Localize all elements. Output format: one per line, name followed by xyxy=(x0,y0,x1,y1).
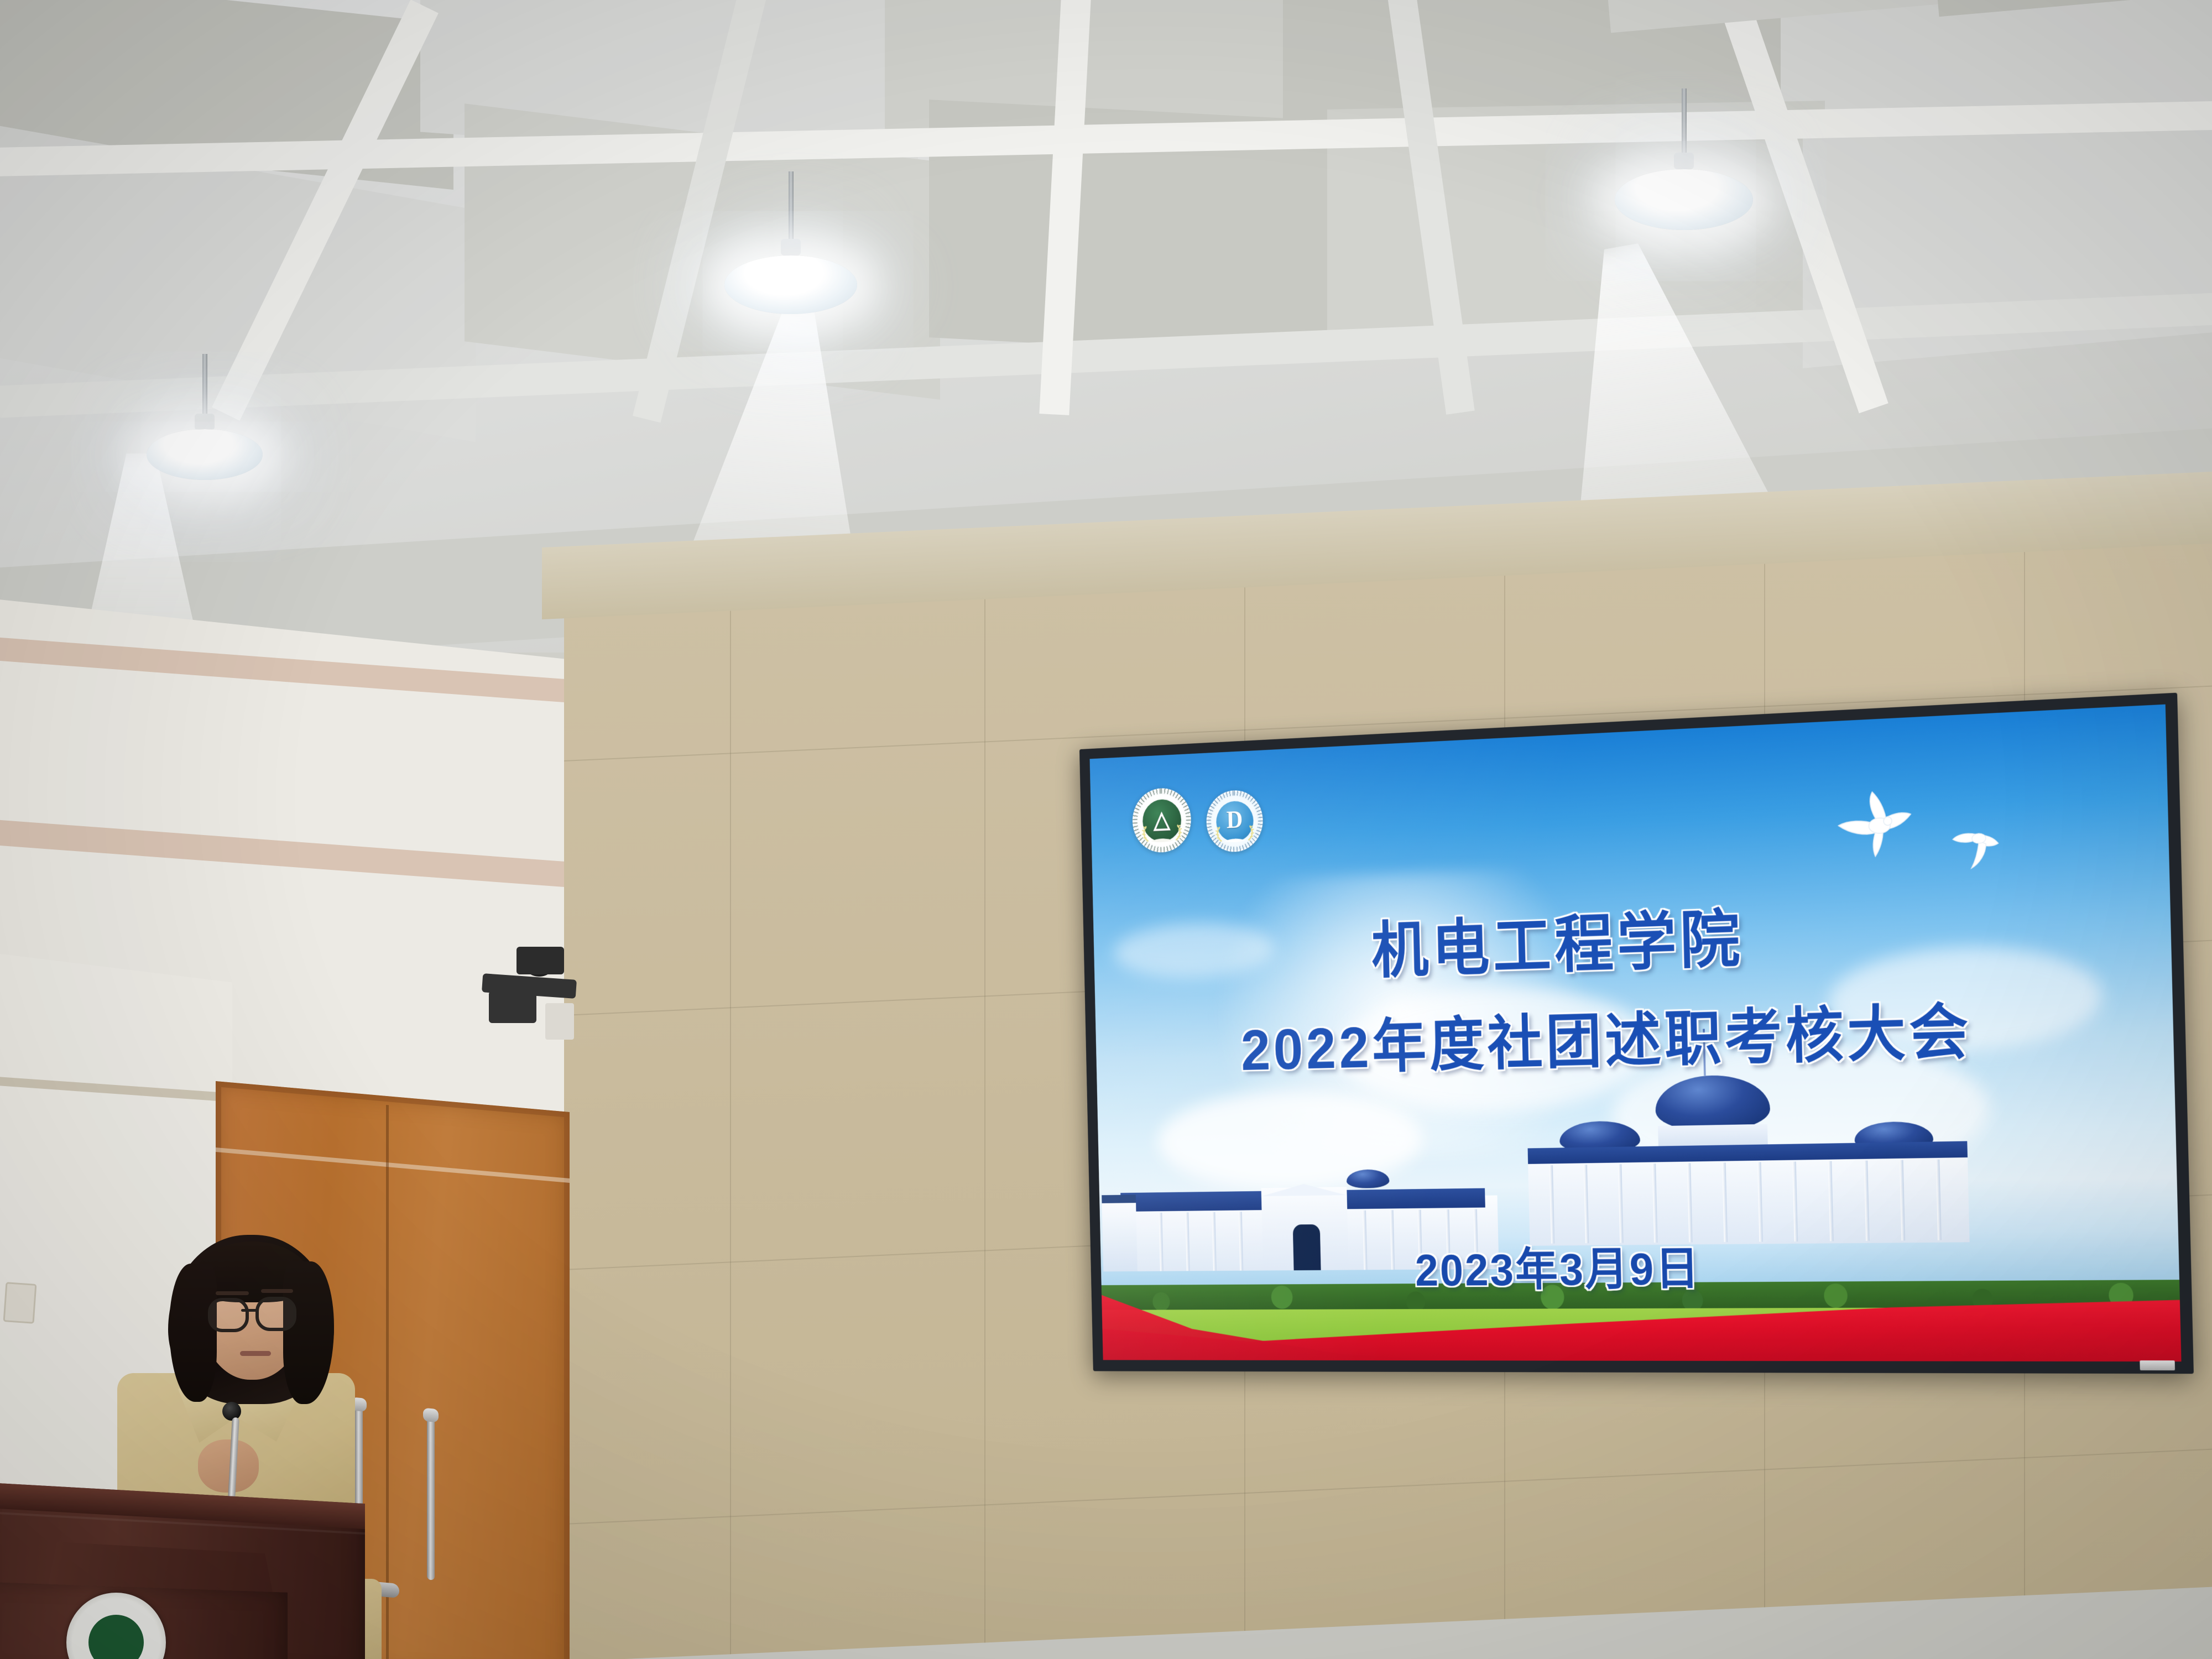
screen-title-line1: 机电工程学院 xyxy=(1370,888,1745,990)
pendant-lamp-left xyxy=(138,354,271,498)
pendant-lamp-right xyxy=(1604,88,1764,254)
screen-model-label xyxy=(2140,1360,2175,1370)
speaker-eyebrow-right xyxy=(261,1289,293,1293)
wheat-laurel-icon xyxy=(1214,822,1256,844)
wheat-laurel-icon xyxy=(1140,821,1184,844)
door-handle-right[interactable] xyxy=(427,1413,435,1580)
main-dome xyxy=(1655,1074,1771,1131)
speaker-glasses xyxy=(208,1298,307,1328)
speaker-mouth xyxy=(240,1351,271,1356)
wall-mounted-camera xyxy=(476,946,608,1051)
led-display-wall[interactable]: △ D xyxy=(1079,693,2194,1374)
speaker-eyebrow-left xyxy=(216,1291,249,1295)
dove-large xyxy=(1829,781,1931,862)
left-wall-outlet xyxy=(3,1282,37,1324)
screen-date: 2023年3月9日 xyxy=(1414,1231,1701,1298)
screen-content: △ D xyxy=(1090,705,2182,1362)
photo-scene: △ D xyxy=(0,0,2212,1659)
dove-small xyxy=(1943,816,2013,875)
campus-main-building xyxy=(1097,1059,2182,1361)
pendant-lamp-center xyxy=(713,171,868,337)
